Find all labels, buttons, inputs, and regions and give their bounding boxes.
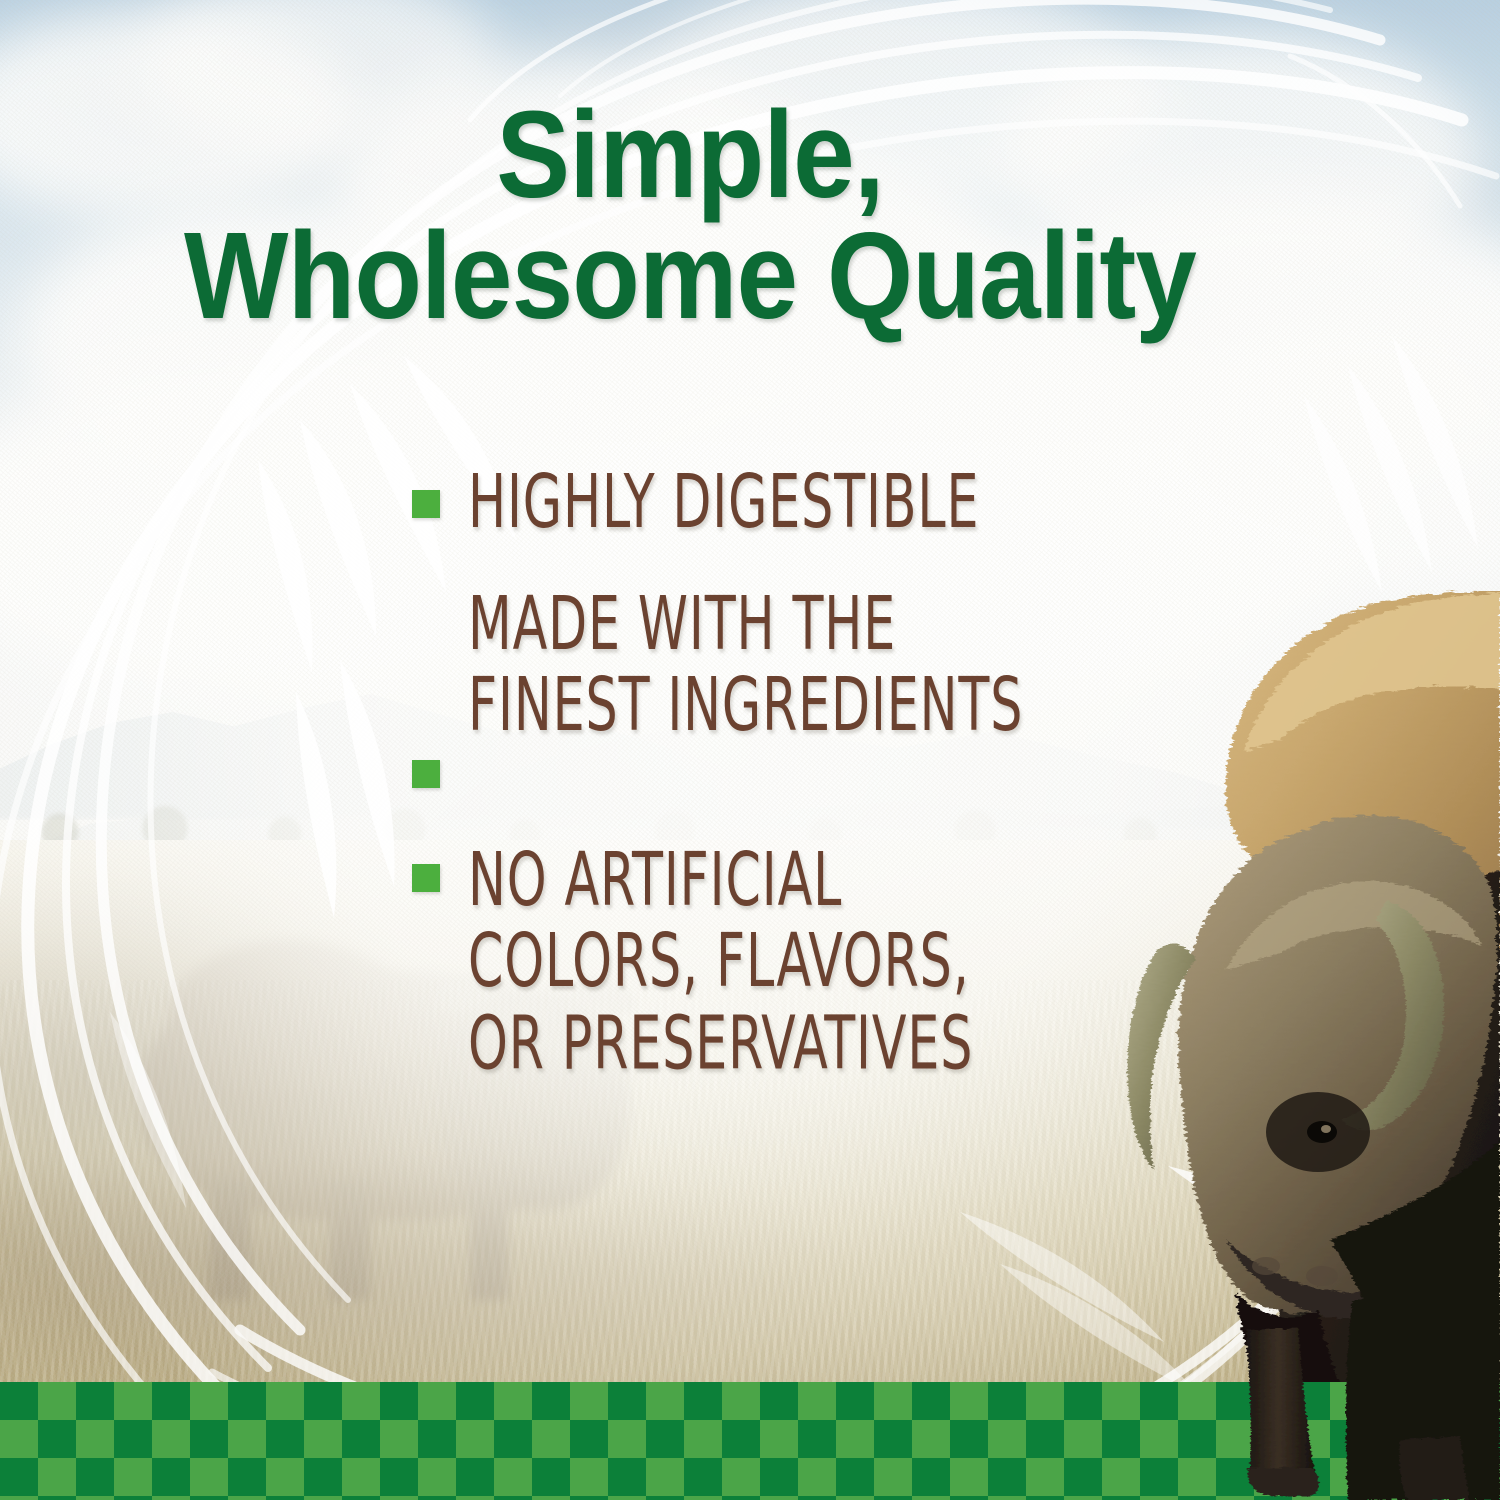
- headline-line-2: Wholesome Quality: [69, 217, 1311, 338]
- list-item-label: MADE WITH THE FINEST INGREDIENTS: [468, 584, 1023, 747]
- list-item: HIGHLY DIGESTIBLE: [412, 462, 1102, 532]
- list-item-label: NO ARTIFICIAL COLORS, FLAVORS, OR PRESER…: [468, 840, 973, 1085]
- list-item-label: HIGHLY DIGESTIBLE: [468, 462, 979, 544]
- headline-line-1: Simple,: [69, 96, 1311, 217]
- product-feature-banner: Simple, Wholesome Quality HIGHLY DIGESTI…: [0, 0, 1500, 1500]
- bullet-square-icon: [412, 760, 440, 788]
- text-content-layer: Simple, Wholesome Quality HIGHLY DIGESTI…: [0, 0, 1500, 1500]
- bullet-square-icon: [412, 864, 440, 892]
- bullet-square-icon: [412, 490, 440, 518]
- page-title: Simple, Wholesome Quality: [69, 96, 1311, 337]
- checkerboard-footer: [0, 1382, 1500, 1500]
- list-item: MADE WITH THE FINEST INGREDIENTS: [412, 584, 1102, 788]
- list-item: NO ARTIFICIAL COLORS, FLAVORS, OR PRESER…: [412, 840, 1102, 1051]
- feature-list: HIGHLY DIGESTIBLE MADE WITH THE FINEST I…: [412, 462, 1102, 1104]
